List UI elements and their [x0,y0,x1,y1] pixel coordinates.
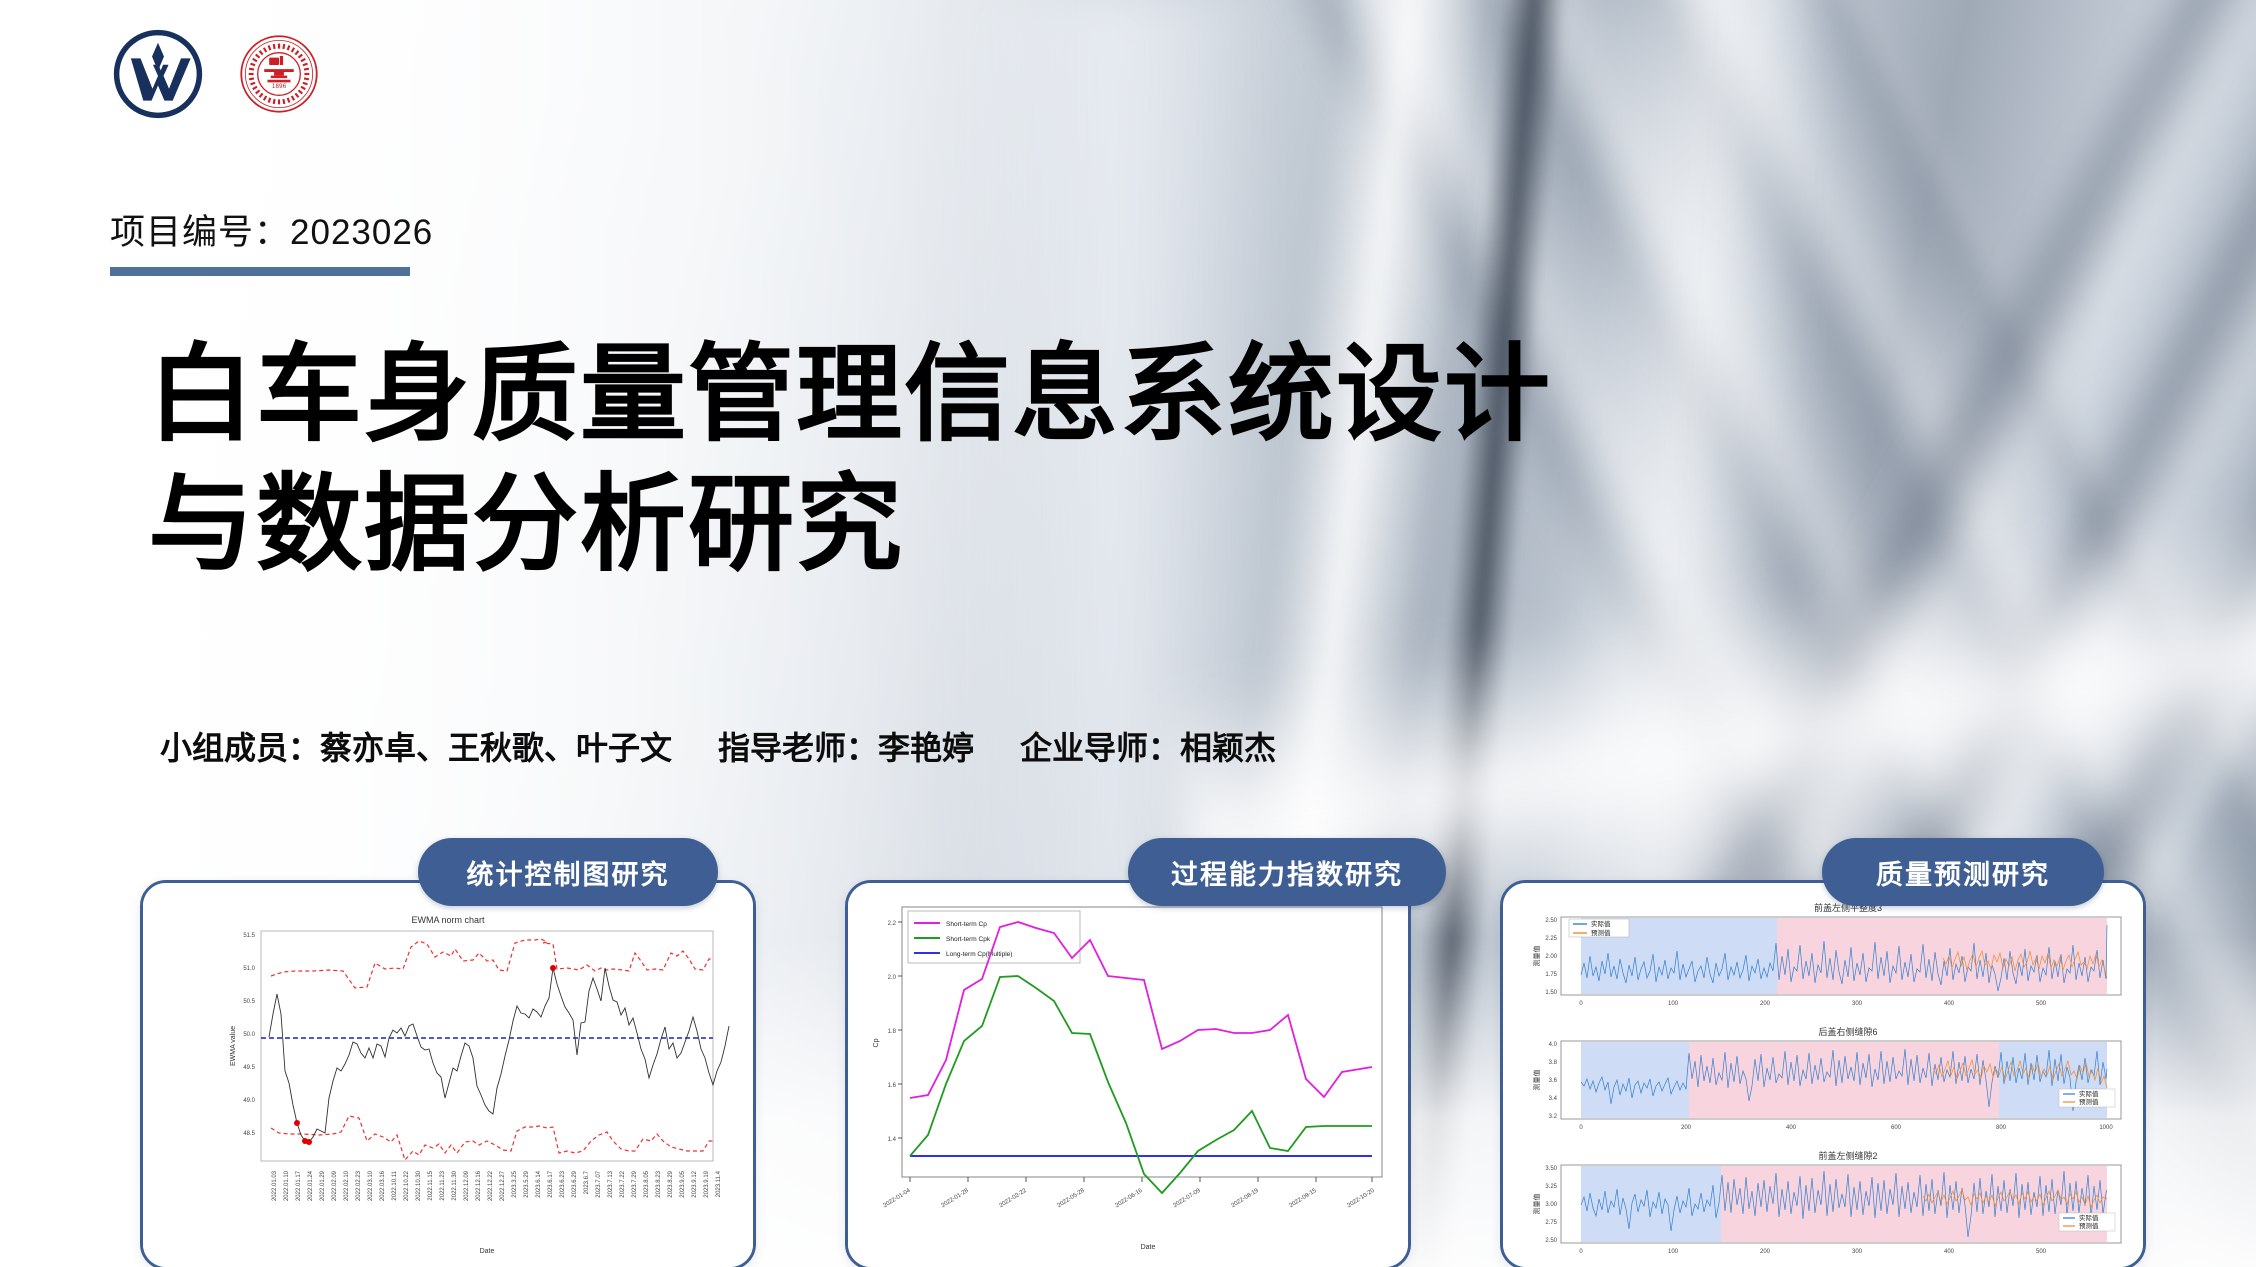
svg-text:800: 800 [1996,1125,2007,1131]
ewma-violation-point [306,1139,312,1145]
svg-text:2023.9.19: 2023.9.19 [704,1170,710,1197]
card-quality-prediction[interactable]: 前盖左侧平整度3 2.502.25 2.001.75 1.50 测量值 实际值 … [1500,880,2146,1267]
svg-text:2022.12.27: 2022.12.27 [500,1170,506,1201]
svg-text:1000: 1000 [2099,1125,2113,1131]
project-number-row: 项目编号：2023026 [110,204,433,255]
svg-text:2023.6.14: 2023.6.14 [536,1170,542,1197]
subplot1-y-label: 测量值 [1532,946,1541,967]
svg-text:51.0: 51.0 [243,966,255,972]
svg-text:2023.7.29: 2023.7.29 [632,1170,638,1197]
project-number-block: 项目编号：2023026 [110,204,433,276]
subplot1-legend-actual: 实际值 [1591,919,1611,928]
svg-text:2022.11.30: 2022.11.30 [452,1170,458,1200]
subplot2-y-label: 测量值 [1532,1070,1541,1091]
svg-text:2022.01.24: 2022.01.24 [308,1170,314,1201]
subplot3-legend-actual: 实际值 [2079,1213,2099,1222]
ewma-chart-title: EWMA norm chart [411,915,485,925]
svg-text:51.5: 51.5 [243,933,255,939]
svg-text:2022.12.09: 2022.12.09 [464,1170,470,1201]
svg-text:2022.01.10: 2022.01.10 [284,1170,290,1201]
svg-text:500: 500 [2036,1249,2047,1255]
credits-advisor: 指导老师：李艳婷 [718,730,974,766]
ewma-x-label: Date [480,1248,495,1255]
svg-text:50.0: 50.0 [243,1032,255,1038]
cp-legend-item-2: Short-term Cpk [946,936,991,943]
subplot1-legend-pred: 预测值 [1591,928,1611,937]
svg-text:49.5: 49.5 [243,1065,255,1071]
page-title-line-1: 白车身质量管理信息系统设计 [148,330,1552,460]
svg-text:3.50: 3.50 [1545,1166,1557,1172]
svg-text:2.25: 2.25 [1545,936,1557,942]
svg-text:1.75: 1.75 [1545,972,1557,978]
svg-text:200: 200 [1760,1249,1771,1255]
svg-text:2023.8.29: 2023.8.29 [668,1170,674,1197]
svg-text:100: 100 [1668,1249,1679,1255]
cp-legend-item-1: Short-term Cp [946,921,987,928]
svg-text:1896: 1896 [272,84,287,90]
svg-text:2.50: 2.50 [1545,1238,1557,1244]
credits-row: 小组成员：蔡亦卓、王秋歌、叶子文指导老师：李艳婷企业导师：相颖杰 [160,723,1276,769]
svg-text:2022.12.16: 2022.12.16 [476,1170,482,1201]
svg-text:2023.6.17: 2023.6.17 [548,1170,554,1197]
svg-text:300: 300 [1852,1249,1863,1255]
svg-text:2.75: 2.75 [1545,1220,1557,1226]
svg-text:2022.03.10: 2022.03.10 [368,1170,374,1201]
svg-text:2022.10.30: 2022.10.30 [416,1170,422,1201]
svg-text:2022.02.23: 2022.02.23 [356,1170,362,1201]
project-number-rule [110,267,410,276]
svg-text:2022.02.10: 2022.02.10 [344,1170,350,1201]
svg-text:100: 100 [1668,1001,1679,1007]
svg-text:2.50: 2.50 [1545,918,1557,924]
svg-text:2023.6.29: 2023.6.29 [572,1170,578,1197]
svg-text:2023.3.25: 2023.3.25 [512,1170,518,1197]
page-title-line-2: 与数据分析研究 [148,460,1552,590]
svg-text:500: 500 [2036,1001,2047,1007]
research-cards: EWMA norm chart 51.551.0 50.550.0 49.549… [0,838,2256,1267]
sjtu-logo: 1896 [238,33,320,115]
ewma-y-label: EWMA value [230,1026,237,1066]
presentation-slide: 1896 项目编号：2023026 白车身质量管理信息系统设计 与数据分析研究 … [0,0,2256,1267]
badge-process-capability[interactable]: 过程能力指数研究 [1128,838,1446,906]
volkswagen-logo [112,28,204,120]
svg-text:2023.8.05: 2023.8.05 [644,1170,650,1197]
svg-text:300: 300 [1852,1001,1863,1007]
svg-text:2023.5.29: 2023.5.29 [524,1170,530,1197]
svg-text:400: 400 [1944,1249,1955,1255]
subplot3-legend-pred: 预测值 [2079,1221,2099,1230]
svg-text:2022.10.22: 2022.10.22 [404,1170,410,1201]
project-number-value: 2023026 [290,213,433,252]
subplot2-legend-pred: 预测值 [2079,1097,2099,1106]
svg-text:50.5: 50.5 [243,999,255,1005]
subplot2-legend-actual: 实际值 [2079,1089,2099,1098]
svg-text:1.6: 1.6 [888,1083,897,1089]
cp-x-label: Date [1141,1244,1156,1251]
svg-text:2023.6.23: 2023.6.23 [560,1170,566,1197]
svg-text:2022.10.11: 2022.10.11 [392,1170,398,1200]
svg-text:2023.8.23: 2023.8.23 [656,1170,662,1197]
ewma-chart: EWMA norm chart 51.551.0 50.550.0 49.549… [143,883,753,1267]
credits-members: 小组成员：蔡亦卓、王秋歌、叶子文 [160,730,672,766]
ewma-violation-point [294,1120,300,1126]
svg-text:2022.12.22: 2022.12.22 [488,1170,494,1201]
credits-mentor: 企业导师：相颖杰 [1020,730,1276,766]
card-statistical-control-chart[interactable]: EWMA norm chart 51.551.0 50.550.0 49.549… [140,880,756,1267]
badge-quality-prediction[interactable]: 质量预测研究 [1822,838,2104,906]
svg-text:3.2: 3.2 [1549,1114,1558,1120]
svg-text:2022.01.17: 2022.01.17 [296,1170,302,1201]
card-process-capability[interactable]: 2.22.0 1.81.6 1.4 Cp Short-term Cp Short… [845,880,1411,1267]
svg-text:2023.9.12: 2023.9.12 [692,1170,698,1197]
svg-text:2022.02.09: 2022.02.09 [332,1170,338,1201]
svg-text:2023.6.7: 2023.6.7 [584,1170,590,1194]
logo-row: 1896 [112,28,320,120]
svg-text:4.0: 4.0 [1549,1042,1558,1048]
svg-text:3.4: 3.4 [1549,1096,1558,1102]
svg-text:1.50: 1.50 [1545,990,1557,996]
subplot3-title: 前盖左侧缝隙2 [1818,1150,1877,1161]
project-number-label: 项目编号： [110,213,290,252]
svg-text:49.0: 49.0 [243,1098,255,1104]
svg-text:2.00: 2.00 [1545,954,1557,960]
svg-text:3.00: 3.00 [1545,1202,1557,1208]
svg-text:2022.01.03: 2022.01.03 [272,1170,278,1201]
svg-text:400: 400 [1944,1001,1955,1007]
svg-text:48.5: 48.5 [243,1131,255,1137]
ewma-violation-point [550,965,556,971]
svg-text:2023.9.05: 2023.9.05 [680,1170,686,1197]
svg-text:400: 400 [1786,1125,1797,1131]
svg-text:2023.7.22: 2023.7.22 [620,1170,626,1197]
svg-text:2022.11.15: 2022.11.15 [428,1170,434,1200]
svg-text:3.8: 3.8 [1549,1060,1558,1066]
subplot3-y-label: 测量值 [1532,1194,1541,1215]
badge-statistical-control-chart[interactable]: 统计控制图研究 [418,838,718,906]
svg-text:2023.7.07: 2023.7.07 [596,1170,602,1197]
svg-text:2023.11.4: 2023.11.4 [716,1170,722,1197]
svg-text:600: 600 [1891,1125,1902,1131]
capability-chart: 2.22.0 1.81.6 1.4 Cp Short-term Cp Short… [848,883,1408,1267]
svg-text:2022.03.16: 2022.03.16 [380,1170,386,1201]
subplot2-title: 后盖右侧缝隙6 [1818,1026,1877,1037]
cp-y-label: Cp [873,1038,880,1047]
svg-text:2022.01.29: 2022.01.29 [320,1170,326,1201]
svg-text:3.25: 3.25 [1545,1184,1557,1190]
svg-text:200: 200 [1760,1001,1771,1007]
svg-text:2023.7.13: 2023.7.13 [608,1170,614,1197]
svg-text:200: 200 [1681,1125,1692,1131]
page-title: 白车身质量管理信息系统设计 与数据分析研究 [148,330,1552,591]
svg-text:2.0: 2.0 [888,975,897,981]
svg-text:1.8: 1.8 [888,1029,897,1035]
svg-text:2022.11.23: 2022.11.23 [440,1170,446,1200]
svg-text:1.4: 1.4 [888,1137,897,1143]
cp-legend-item-3: Long-term Cp(Multiple) [946,951,1012,958]
svg-text:2.2: 2.2 [888,921,897,927]
prediction-charts: 前盖左侧平整度3 2.502.25 2.001.75 1.50 测量值 实际值 … [1503,883,2143,1267]
svg-text:3.6: 3.6 [1549,1078,1558,1084]
